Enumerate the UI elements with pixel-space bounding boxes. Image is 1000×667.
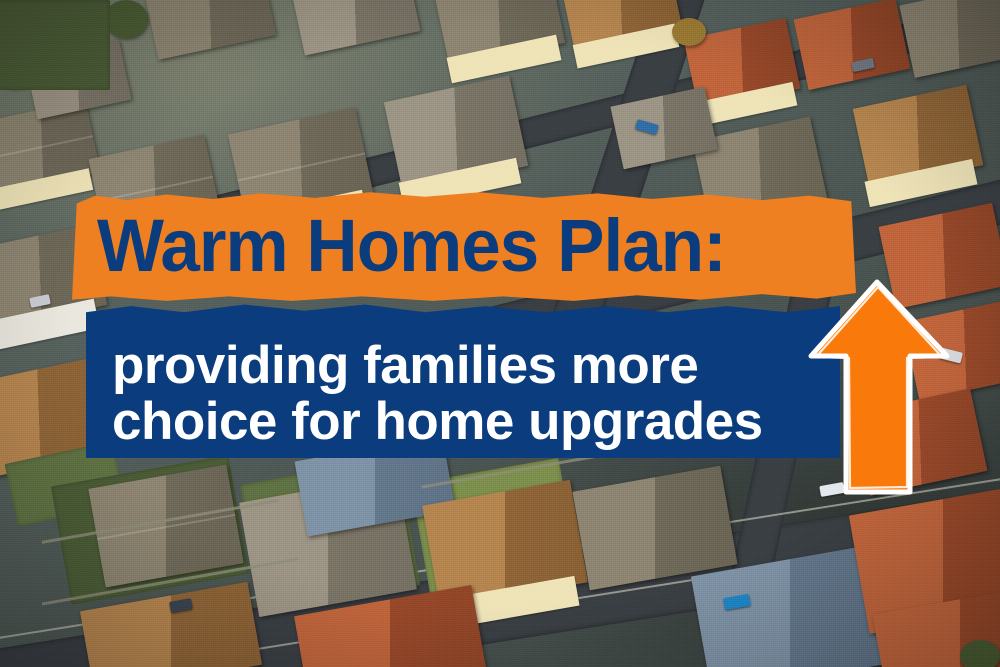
headline-banner-navy: providing families more choice for home … [86, 303, 840, 458]
headline-subtitle-line-1: providing families more [112, 339, 698, 392]
headline-title: Warm Homes Plan: [72, 209, 824, 283]
promo-graphic: Warm Homes Plan: providing families more… [0, 0, 1000, 667]
up-arrow-graphic [806, 278, 952, 500]
up-arrow-shape [811, 282, 947, 492]
headline-banner-orange: Warm Homes Plan: [72, 190, 856, 302]
headline-subtitle-line-2: choice for home upgrades [112, 395, 763, 448]
up-arrow-icon [806, 278, 952, 500]
